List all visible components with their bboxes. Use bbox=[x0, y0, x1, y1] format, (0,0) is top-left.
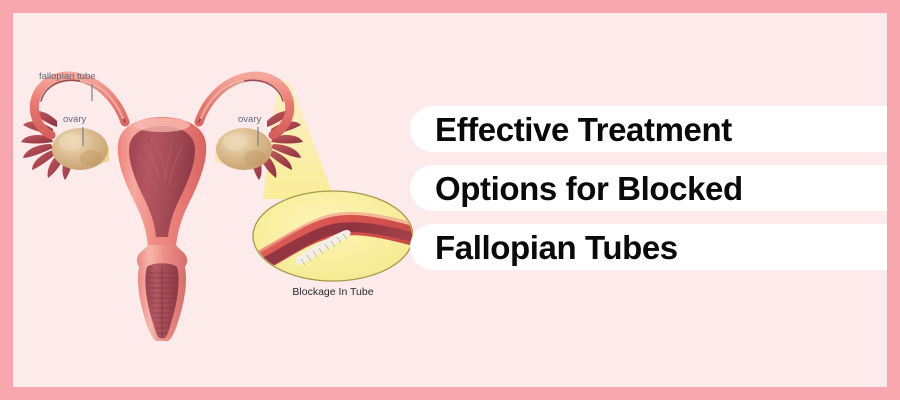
label-fallopian-tube-text: fallopian tube bbox=[39, 71, 96, 82]
reproductive-system-illustration: fallopian tube ovary ovary Blockage In T… bbox=[13, 21, 413, 351]
label-ovary-right-text: ovary bbox=[238, 114, 261, 125]
banner-canvas: fallopian tube ovary ovary Blockage In T… bbox=[13, 13, 887, 387]
magnifier-ellipse bbox=[245, 191, 413, 281]
headline-line-2: Options for Blocked bbox=[435, 172, 743, 205]
headline-pill-2: Options for Blocked bbox=[410, 165, 887, 211]
blockage-caption: Blockage In Tube bbox=[292, 286, 373, 298]
headline-block: Effective Treatment Options for Blocked … bbox=[410, 106, 887, 270]
headline-line-3: Fallopian Tubes bbox=[435, 231, 678, 264]
banner: fallopian tube ovary ovary Blockage In T… bbox=[0, 0, 900, 400]
label-ovary-left-text: ovary bbox=[63, 114, 86, 125]
headline-pill-1: Effective Treatment bbox=[410, 106, 887, 152]
ovary-right bbox=[216, 128, 272, 170]
headline-pill-3: Fallopian Tubes bbox=[410, 224, 887, 270]
uterus-body bbox=[112, 117, 206, 247]
headline-line-1: Effective Treatment bbox=[435, 113, 732, 146]
vagina bbox=[138, 259, 186, 341]
ovary-left bbox=[52, 128, 108, 170]
